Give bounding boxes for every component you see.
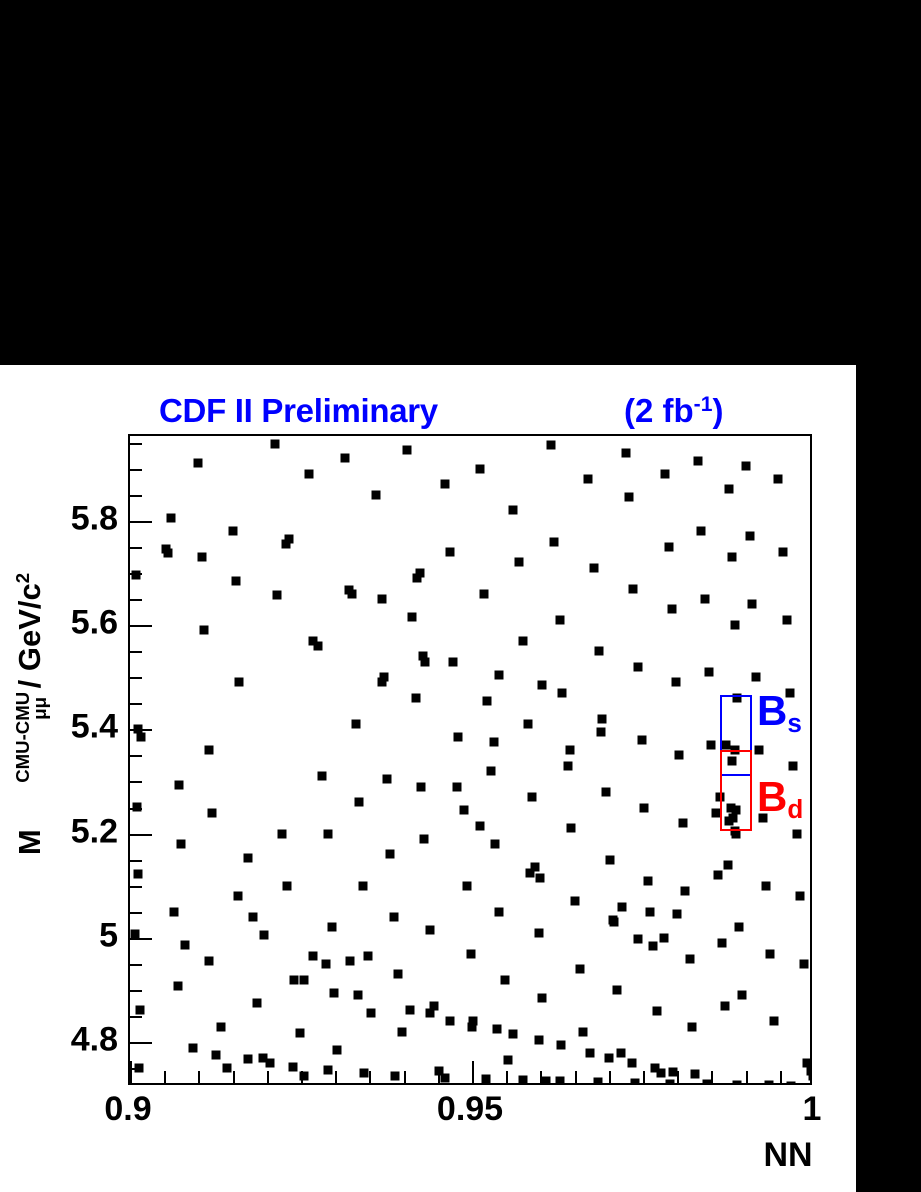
data-point: [721, 1001, 730, 1010]
data-point: [132, 802, 141, 811]
data-point: [354, 991, 363, 1000]
data-point: [678, 819, 687, 828]
data-point: [644, 876, 653, 885]
data-point: [235, 678, 244, 687]
x-axis-minor-tick: [609, 1071, 611, 1083]
x-axis-tick-label: 1: [803, 1090, 822, 1129]
x-axis-minor-tick: [746, 1071, 748, 1083]
data-point: [480, 589, 489, 598]
data-point: [131, 930, 140, 939]
data-point: [476, 464, 485, 473]
data-point: [163, 549, 172, 558]
data-point: [466, 949, 475, 958]
data-point: [666, 1079, 675, 1085]
data-point: [731, 621, 740, 630]
data-point: [420, 834, 429, 843]
data-point: [664, 542, 673, 551]
data-point: [174, 780, 183, 789]
experiment-title: CDF II Preliminary: [159, 392, 438, 430]
data-point: [799, 959, 808, 968]
data-point: [648, 941, 657, 950]
data-point: [390, 913, 399, 922]
data-point: [317, 772, 326, 781]
x-axis-minor-tick: [233, 1071, 235, 1083]
data-point: [476, 821, 485, 830]
data-point: [660, 469, 669, 478]
data-point: [314, 641, 323, 650]
x-axis-major-tick: [472, 1061, 474, 1083]
data-point: [519, 636, 528, 645]
data-point: [283, 881, 292, 890]
x-axis-minor-tick: [198, 1071, 200, 1083]
data-point: [194, 459, 203, 468]
data-point: [391, 1071, 400, 1080]
data-point: [281, 540, 290, 549]
luminosity-base: (2 fb: [624, 392, 694, 429]
y-axis-minor-tick: [130, 443, 142, 445]
data-point: [454, 733, 463, 742]
y-axis-tick-label: 5: [99, 916, 118, 955]
data-point: [717, 939, 726, 948]
data-point: [640, 803, 649, 812]
data-point: [212, 1050, 221, 1059]
data-point: [260, 931, 269, 940]
data-point: [366, 1009, 375, 1018]
data-point: [808, 1072, 812, 1081]
data-point: [487, 767, 496, 776]
data-point: [645, 907, 654, 916]
data-point: [324, 829, 333, 838]
data-point: [492, 1025, 501, 1034]
data-point: [135, 1005, 144, 1014]
y-axis-minor-tick: [130, 886, 142, 888]
y-axis-minor-tick: [130, 964, 142, 966]
data-point: [440, 1073, 449, 1082]
y-title-unit-exponent: 2: [12, 573, 33, 583]
data-point: [459, 806, 468, 815]
data-point: [348, 589, 357, 598]
x-axis-major-tick: [130, 1061, 132, 1083]
y-title-unit: / GeV/c: [12, 583, 47, 697]
data-point: [556, 1040, 565, 1049]
data-point: [762, 881, 771, 890]
signal-box-label-bs: Bs: [757, 690, 802, 732]
data-point: [232, 576, 241, 585]
data-point: [774, 475, 783, 484]
x-axis-tick-labels: 0.90.951: [128, 1090, 812, 1134]
data-point: [273, 590, 282, 599]
data-point: [406, 1005, 415, 1014]
x-axis-tick-label: 0.9: [104, 1090, 151, 1129]
data-point: [536, 873, 545, 882]
data-point: [385, 850, 394, 859]
data-point: [697, 527, 706, 536]
data-point: [332, 1045, 341, 1054]
data-point: [764, 1081, 773, 1085]
data-point: [673, 910, 682, 919]
luminosity-exponent: -1: [694, 393, 713, 416]
data-point: [535, 1035, 544, 1044]
x-axis-minor-tick: [335, 1071, 337, 1083]
y-axis-tick-label: 5.6: [71, 604, 118, 643]
data-point: [324, 1066, 333, 1075]
data-point: [629, 584, 638, 593]
data-point: [167, 514, 176, 523]
data-point: [704, 667, 713, 676]
data-point: [606, 855, 615, 864]
data-point: [136, 732, 145, 741]
y-axis-tick-label: 5.8: [71, 499, 118, 538]
data-point: [567, 824, 576, 833]
data-point: [685, 954, 694, 963]
data-point: [358, 881, 367, 890]
data-point: [468, 1022, 477, 1031]
y-axis-tick-label: 5.4: [71, 708, 118, 747]
data-point: [509, 506, 518, 515]
signal-box-label-bd: Bd: [757, 776, 803, 818]
y-axis-major-tick: [130, 1042, 152, 1044]
data-point: [792, 829, 801, 838]
data-point: [584, 475, 593, 484]
data-point: [703, 1080, 712, 1085]
data-point: [446, 548, 455, 557]
y-axis-minor-tick: [130, 755, 142, 757]
data-point: [782, 615, 791, 624]
data-point: [745, 532, 754, 541]
y-axis-major-tick: [130, 625, 152, 627]
y-axis-minor-tick: [130, 469, 142, 471]
data-point: [602, 787, 611, 796]
y-axis-title: MCMU-CMUμμ / GeV/c2: [12, 573, 48, 855]
data-point: [216, 1022, 225, 1031]
data-point: [503, 1056, 512, 1065]
data-point: [707, 740, 716, 749]
data-point: [714, 871, 723, 880]
data-point: [751, 673, 760, 682]
data-point: [462, 881, 471, 890]
data-point: [425, 1009, 434, 1018]
data-point: [481, 1074, 490, 1083]
data-point: [748, 600, 757, 609]
data-point: [173, 981, 182, 990]
data-point: [617, 1048, 626, 1057]
data-point: [407, 613, 416, 622]
data-point: [755, 746, 764, 755]
data-point: [243, 853, 252, 862]
data-point: [448, 657, 457, 666]
y-axis-minor-tick: [130, 677, 142, 679]
data-point: [243, 1054, 252, 1063]
x-axis-minor-tick: [404, 1071, 406, 1083]
y-title-base: M: [12, 829, 47, 855]
y-title-subscript: μμ: [29, 697, 50, 720]
data-point: [566, 746, 575, 755]
data-point: [688, 1022, 697, 1031]
data-point: [537, 993, 546, 1002]
x-axis-minor-tick: [506, 1071, 508, 1083]
data-point: [208, 808, 217, 817]
x-axis-title: NN: [763, 1136, 812, 1175]
data-point: [500, 975, 509, 984]
data-point: [727, 553, 736, 562]
y-axis-minor-tick: [130, 703, 142, 705]
data-point: [295, 1028, 304, 1037]
x-axis-minor-tick: [575, 1071, 577, 1083]
data-point: [537, 680, 546, 689]
data-point: [382, 774, 391, 783]
data-point: [197, 553, 206, 562]
data-point: [329, 988, 338, 997]
data-point: [300, 1072, 309, 1081]
data-point: [681, 886, 690, 895]
data-point: [518, 1075, 527, 1084]
data-point: [576, 965, 585, 974]
data-point: [204, 746, 213, 755]
y-axis-minor-tick: [130, 990, 142, 992]
y-axis-minor-tick: [130, 651, 142, 653]
data-point: [789, 761, 798, 770]
data-point: [452, 782, 461, 791]
data-point: [637, 735, 646, 744]
data-point: [659, 933, 668, 942]
y-axis-minor-tick: [130, 860, 142, 862]
x-axis-minor-tick: [267, 1071, 269, 1083]
data-point: [766, 949, 775, 958]
data-point: [733, 1080, 742, 1085]
data-point: [377, 594, 386, 603]
data-point: [535, 928, 544, 937]
data-point: [550, 537, 559, 546]
bs-label-subscript: s: [787, 708, 801, 738]
data-point: [589, 563, 598, 572]
data-point: [674, 751, 683, 760]
data-point: [277, 829, 286, 838]
data-point: [690, 1070, 699, 1079]
data-point: [321, 959, 330, 968]
data-point: [625, 493, 634, 502]
data-point: [741, 461, 750, 470]
y-axis-major-tick: [130, 834, 152, 836]
data-point: [613, 986, 622, 995]
data-point: [483, 696, 492, 705]
data-point: [786, 1081, 795, 1085]
data-point: [633, 934, 642, 943]
data-point: [446, 1017, 455, 1026]
data-point: [421, 657, 430, 666]
y-axis-title-wrap: MCMU-CMUμμ / GeV/c2: [0, 434, 60, 994]
x-axis-tick-label: 0.95: [437, 1090, 503, 1129]
data-point: [528, 793, 537, 802]
data-point: [652, 1006, 661, 1015]
data-point: [355, 798, 364, 807]
data-point: [563, 761, 572, 770]
data-point: [491, 840, 500, 849]
x-axis-minor-tick: [780, 1071, 782, 1083]
data-point: [700, 594, 709, 603]
data-point: [228, 527, 237, 536]
data-point: [351, 720, 360, 729]
data-point: [199, 625, 208, 634]
data-point: [669, 1068, 678, 1077]
data-point: [223, 1064, 232, 1073]
y-axis-tick-label: 5.2: [71, 812, 118, 851]
data-point: [671, 678, 680, 687]
data-point: [271, 440, 280, 449]
data-point: [299, 975, 308, 984]
data-point: [249, 913, 258, 922]
data-point: [628, 1059, 637, 1068]
bd-label-base: B: [757, 773, 787, 820]
data-point: [724, 485, 733, 494]
data-point: [630, 1078, 639, 1085]
data-point: [555, 1077, 564, 1085]
y-axis-major-tick: [130, 521, 152, 523]
luminosity-close: ): [712, 392, 723, 429]
data-point: [327, 923, 336, 932]
data-point: [346, 957, 355, 966]
data-point: [770, 1017, 779, 1026]
data-point: [377, 678, 386, 687]
data-point: [667, 605, 676, 614]
y-axis-minor-tick: [130, 599, 142, 601]
data-point: [440, 480, 449, 489]
data-point: [205, 956, 214, 965]
data-point: [364, 952, 373, 961]
data-point: [188, 1044, 197, 1053]
data-point: [608, 915, 617, 924]
data-point: [411, 694, 420, 703]
data-point: [489, 738, 498, 747]
data-point: [132, 570, 141, 579]
data-point: [495, 907, 504, 916]
data-point: [578, 1027, 587, 1036]
data-point: [177, 840, 186, 849]
data-point: [425, 926, 434, 935]
x-axis-minor-tick: [369, 1071, 371, 1083]
data-point: [288, 1063, 297, 1072]
data-point: [341, 454, 350, 463]
x-axis-minor-tick: [643, 1071, 645, 1083]
data-point: [796, 892, 805, 901]
data-point: [633, 662, 642, 671]
data-point: [618, 902, 627, 911]
data-point: [234, 892, 243, 901]
scatter-plot-frame: [128, 434, 812, 1085]
data-point: [778, 548, 787, 557]
data-point: [359, 1069, 368, 1078]
data-point: [570, 897, 579, 906]
data-point: [265, 1059, 274, 1068]
luminosity-annotation: (2 fb-1): [624, 392, 723, 430]
data-point: [558, 688, 567, 697]
data-point: [651, 1064, 660, 1073]
data-point: [509, 1030, 518, 1039]
data-point: [693, 456, 702, 465]
data-point: [594, 647, 603, 656]
data-point: [604, 1053, 613, 1062]
bd-label-subscript: d: [787, 794, 803, 824]
data-point: [621, 448, 630, 457]
y-axis-minor-tick: [130, 781, 142, 783]
y-axis-minor-tick: [130, 495, 142, 497]
data-point: [253, 999, 262, 1008]
signal-box-bd: [720, 750, 753, 831]
data-point: [305, 469, 314, 478]
data-point: [524, 720, 533, 729]
data-point: [546, 441, 555, 450]
data-point: [723, 860, 732, 869]
data-point: [398, 1027, 407, 1036]
data-point: [134, 869, 143, 878]
data-point: [593, 1077, 602, 1085]
data-point: [372, 490, 381, 499]
data-point: [555, 615, 564, 624]
data-point: [495, 670, 504, 679]
data-point: [394, 970, 403, 979]
data-point: [403, 446, 412, 455]
data-point: [738, 991, 747, 1000]
y-axis-minor-tick: [130, 547, 142, 549]
data-point: [585, 1048, 594, 1057]
bs-label-base: B: [757, 687, 787, 734]
data-point: [416, 782, 425, 791]
data-point: [290, 975, 299, 984]
data-point: [309, 952, 318, 961]
data-point: [597, 714, 606, 723]
y-axis-minor-tick: [130, 912, 142, 914]
data-point: [180, 941, 189, 950]
y-axis-minor-tick: [130, 1016, 142, 1018]
data-point: [413, 574, 422, 583]
data-point: [541, 1077, 550, 1085]
data-point: [734, 923, 743, 932]
data-point: [170, 907, 179, 916]
data-point: [526, 868, 535, 877]
x-axis-minor-tick: [164, 1071, 166, 1083]
data-point: [134, 1064, 143, 1073]
data-point: [596, 727, 605, 736]
data-point: [514, 558, 523, 567]
y-axis-tick-label: 4.8: [71, 1021, 118, 1060]
